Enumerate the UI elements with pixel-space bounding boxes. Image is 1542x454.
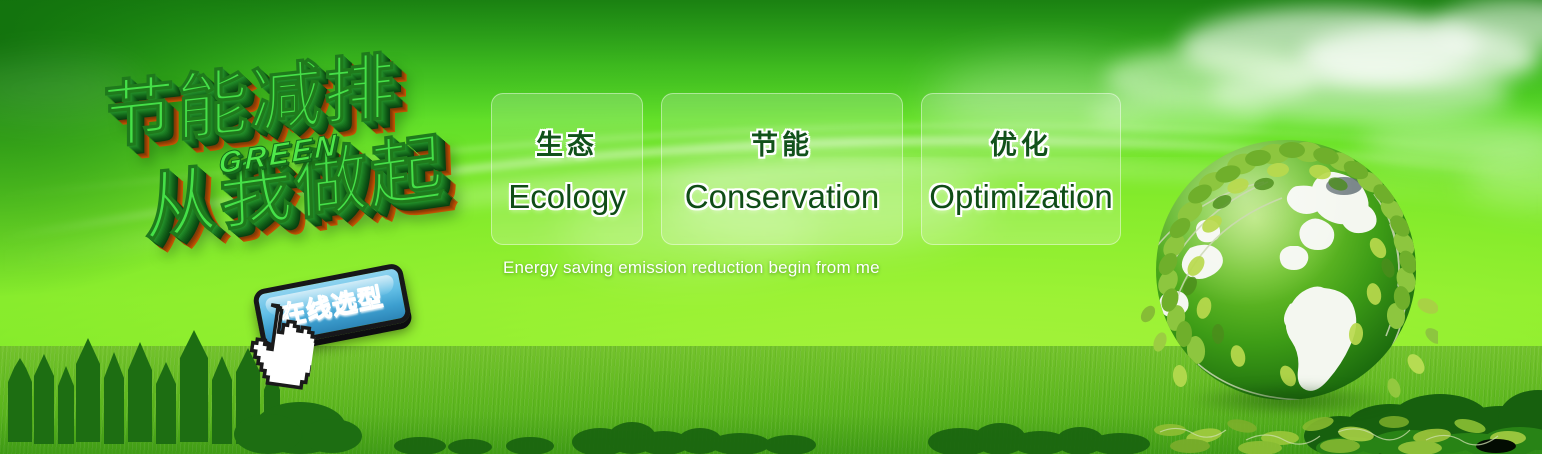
banner-tagline: Energy saving emission reduction begin f… <box>503 258 880 278</box>
headline-artwork: 节能减排 从我做起 GREEN <box>92 36 492 266</box>
globe-shadow <box>1144 376 1436 424</box>
feature-card-list: 生态 Ecology 节能 Conservation 优化 Optimizati… <box>491 93 1121 245</box>
feature-card-ecology[interactable]: 生态 Ecology <box>491 93 643 245</box>
pointing-hand-cursor-icon <box>234 295 319 390</box>
feature-card-cn-label: 节能 <box>751 123 813 162</box>
feature-card-en-label: Optimization <box>929 178 1112 216</box>
feature-card-en-label: Conservation <box>685 178 879 216</box>
leafy-green-globe-icon <box>1138 128 1438 428</box>
feature-card-en-label: Ecology <box>508 178 625 216</box>
feature-card-cn-label: 生态 <box>536 123 598 162</box>
feature-card-conservation[interactable]: 节能 Conservation <box>661 93 903 245</box>
feature-card-optimization[interactable]: 优化 Optimization <box>921 93 1121 245</box>
feature-card-cn-label: 优化 <box>990 123 1052 162</box>
hero-banner: 节能减排 从我做起 GREEN 在线选型 生态 Ecology 节能 Conse… <box>0 0 1542 454</box>
